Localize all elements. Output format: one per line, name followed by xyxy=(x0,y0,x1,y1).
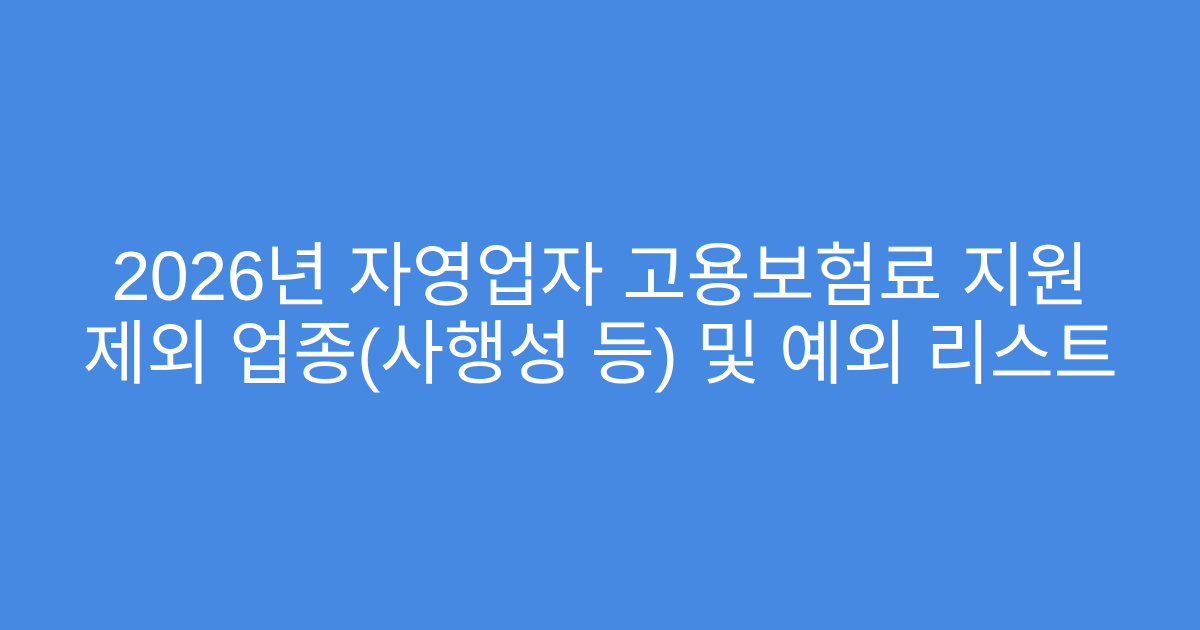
card-content-wrapper: 2026년 자영업자 고용보험료 지원 제외 업종(사행성 등) 및 예외 리스… xyxy=(70,237,1130,393)
og-share-card: 2026년 자영업자 고용보험료 지원 제외 업종(사행성 등) 및 예외 리스… xyxy=(0,0,1200,630)
page-title: 2026년 자영업자 고용보험료 지원 제외 업종(사행성 등) 및 예외 리스… xyxy=(70,237,1130,393)
